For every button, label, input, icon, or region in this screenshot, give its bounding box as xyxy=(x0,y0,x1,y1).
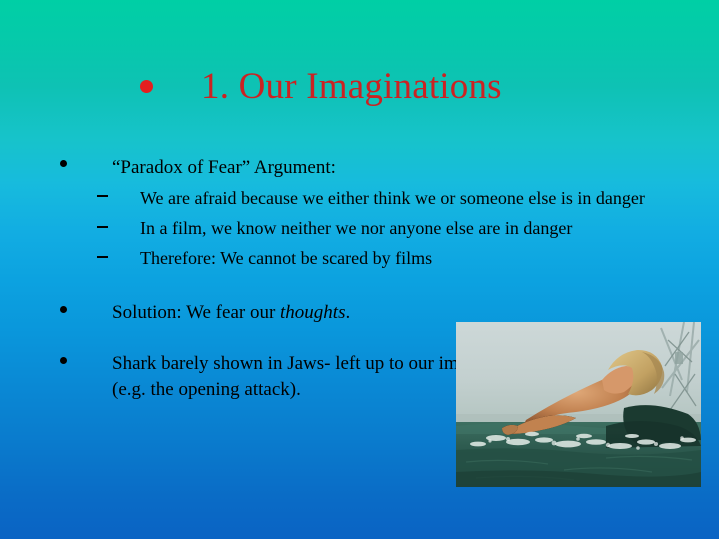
slide-title-row: 1. Our Imaginations xyxy=(140,66,660,107)
sub-bullet-text: Therefore: We cannot be scared by films xyxy=(140,248,432,268)
dash-bullet-icon xyxy=(97,226,108,228)
dash-bullet-icon xyxy=(97,195,108,197)
round-bullet-icon xyxy=(60,160,67,167)
bullet-text-before: Solution: We fear our xyxy=(112,302,280,323)
dash-bullet-icon xyxy=(97,256,108,258)
round-bullet-icon xyxy=(60,357,67,364)
jaws-photo-image xyxy=(456,322,701,487)
sub-bullet-item-therefore: Therefore: We cannot be scared by films xyxy=(0,246,719,270)
presentation-slide: 1. Our Imaginations “Paradox of Fear” Ar… xyxy=(0,0,719,539)
sub-bullet-item-afraid: We are afraid because we either think we… xyxy=(0,186,719,210)
jaws-photo xyxy=(456,322,701,487)
sub-bullet-item-film: In a film, we know neither we nor anyone… xyxy=(0,216,719,240)
sub-bullet-text: In a film, we know neither we nor anyone… xyxy=(140,218,572,238)
bullet-text-emphasis: thoughts xyxy=(280,302,345,323)
page-title: 1. Our Imaginations xyxy=(201,66,502,107)
sub-bullet-text: We are afraid because we either think we… xyxy=(140,188,645,208)
round-bullet-icon xyxy=(60,306,67,313)
bullet-text-after: . xyxy=(345,302,350,323)
bullet-item-paradox: “Paradox of Fear” Argument: xyxy=(0,155,712,180)
spacer xyxy=(0,270,719,300)
title-bullet-icon xyxy=(140,80,153,93)
bullet-text: “Paradox of Fear” Argument: xyxy=(112,157,336,178)
